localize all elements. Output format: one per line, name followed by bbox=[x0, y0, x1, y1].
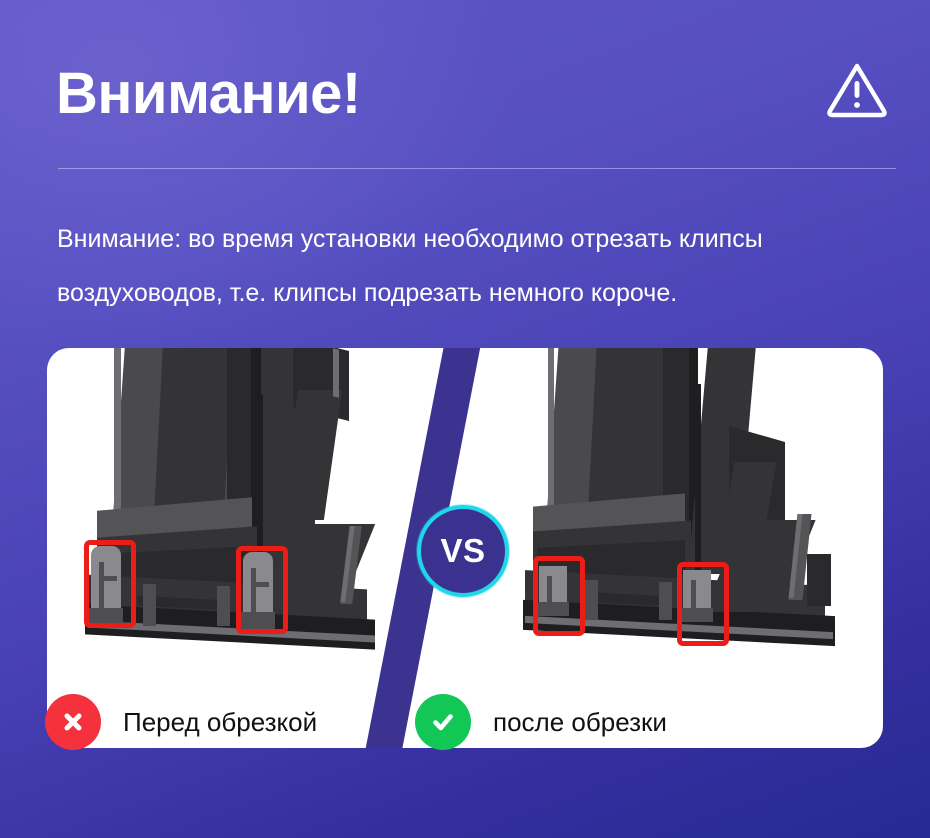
highlight-box-before-2 bbox=[236, 546, 288, 634]
photo-before-cut bbox=[57, 354, 437, 694]
cross-icon bbox=[45, 694, 101, 750]
vs-badge: VS bbox=[417, 505, 509, 597]
header-divider bbox=[58, 168, 896, 169]
warning-triangle-icon bbox=[826, 60, 888, 118]
promo-banner: Внимание! Внимание: во время установки н… bbox=[0, 0, 930, 838]
check-icon bbox=[415, 694, 471, 750]
page-title: Внимание! bbox=[56, 58, 361, 130]
intro-paragraph: Внимание: во время установки необходимо … bbox=[57, 212, 887, 320]
highlight-box-after-2 bbox=[677, 562, 729, 646]
panel-after bbox=[477, 348, 883, 748]
header: Внимание! bbox=[0, 0, 930, 170]
caption-before: Перед обрезкой bbox=[45, 694, 317, 750]
caption-after-label: после обрезки bbox=[493, 707, 667, 738]
highlight-box-after-1 bbox=[533, 556, 585, 636]
vs-label: VS bbox=[440, 532, 485, 570]
caption-before-label: Перед обрезкой bbox=[123, 707, 317, 738]
caption-after: после обрезки bbox=[415, 694, 667, 750]
highlight-box-before-1 bbox=[84, 540, 136, 628]
